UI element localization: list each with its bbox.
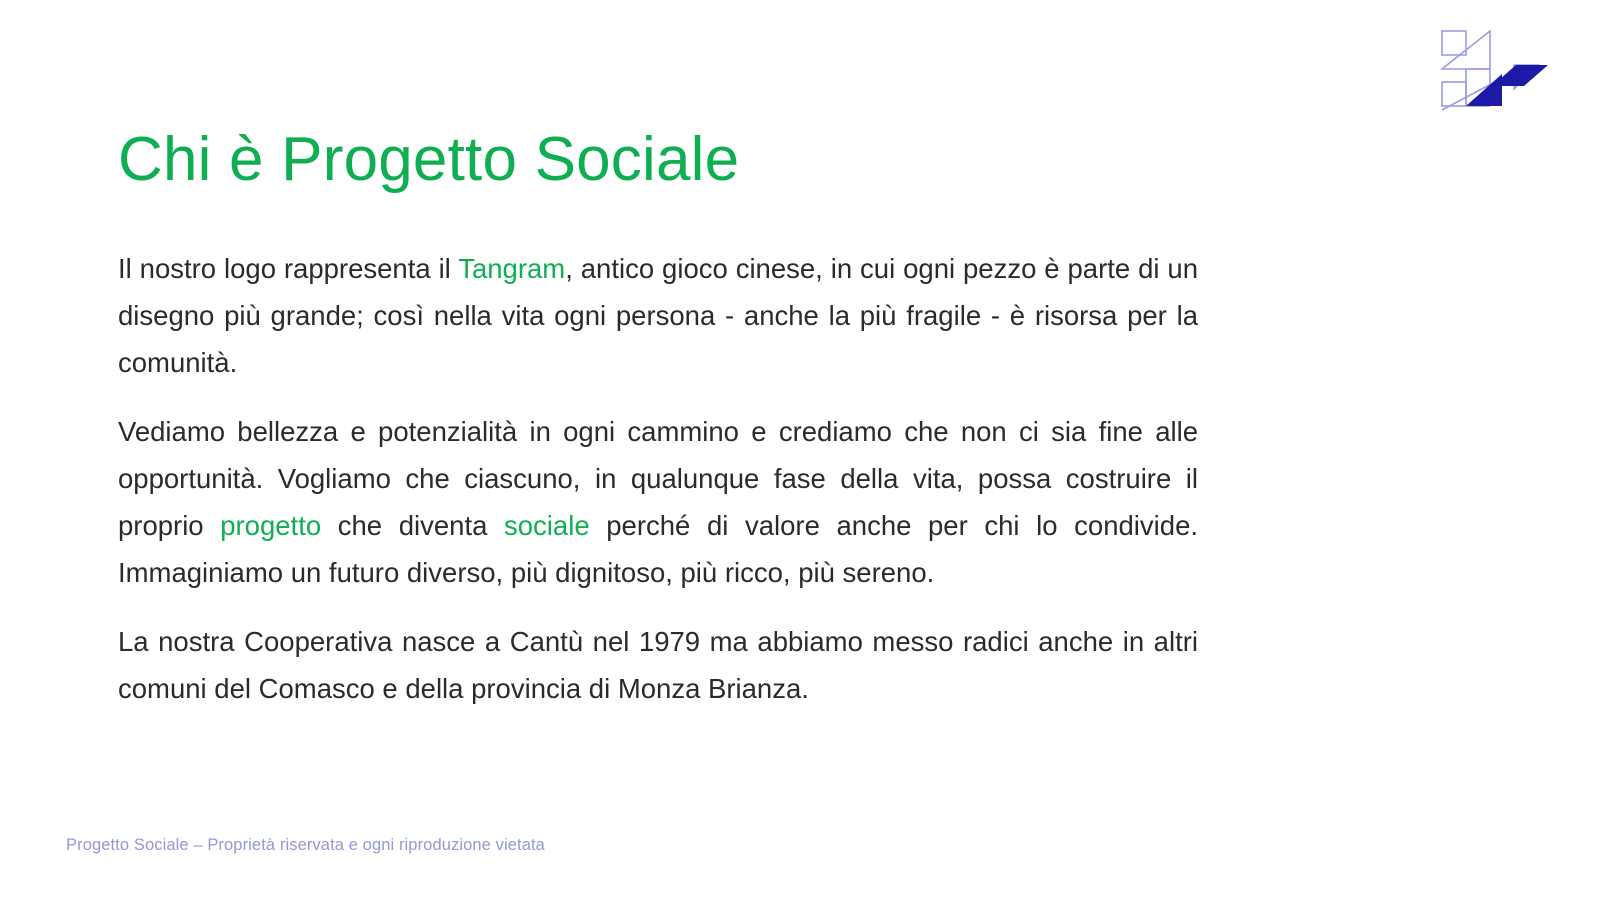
footer-copyright: Progetto Sociale – Proprietà riservata e…	[66, 836, 545, 855]
highlight-progetto: progetto	[220, 510, 321, 541]
text-run: La nostra Cooperativa nasce a Cantù nel …	[118, 626, 1198, 704]
text-run: Il nostro logo rappresenta il	[118, 253, 458, 284]
highlight-tangram: Tangram	[458, 253, 565, 284]
highlight-sociale: sociale	[504, 510, 590, 541]
paragraph-1: Il nostro logo rappresenta il Tangram, a…	[118, 245, 1198, 386]
paragraph-3: La nostra Cooperativa nasce a Cantù nel …	[118, 618, 1198, 712]
slide-canvas: Chi è Progetto Sociale Il nostro logo ra…	[0, 0, 1600, 900]
text-run: che diventa	[321, 510, 504, 541]
slide-body: Il nostro logo rappresenta il Tangram, a…	[118, 245, 1198, 712]
paragraph-2: Vediamo bellezza e potenzialità in ogni …	[118, 408, 1198, 596]
slide-title: Chi è Progetto Sociale	[118, 127, 739, 194]
tangram-filled-pieces	[1466, 65, 1548, 106]
tangram-logo	[1428, 22, 1548, 132]
